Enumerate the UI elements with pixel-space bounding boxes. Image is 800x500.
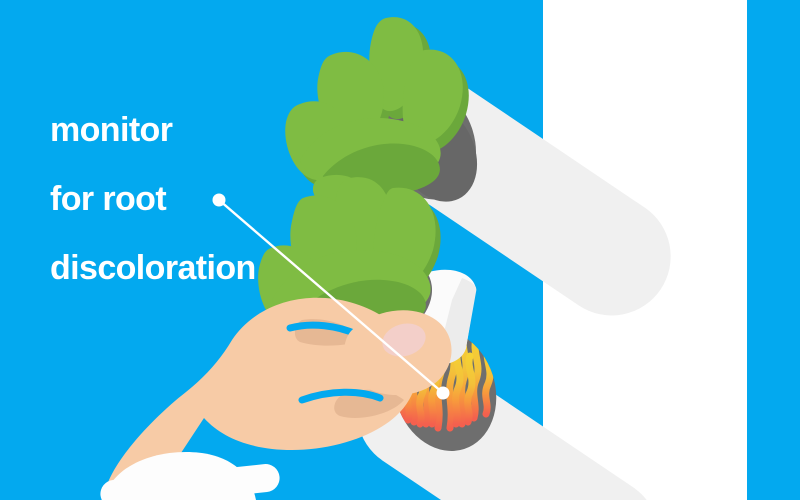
illustration-canvas: monitor for root discoloration [0,0,800,500]
pointer-start-dot [213,194,226,207]
pointer-end-dot [437,387,450,400]
scene-illustration [0,0,800,500]
background-blue-right-stripe [747,0,800,500]
